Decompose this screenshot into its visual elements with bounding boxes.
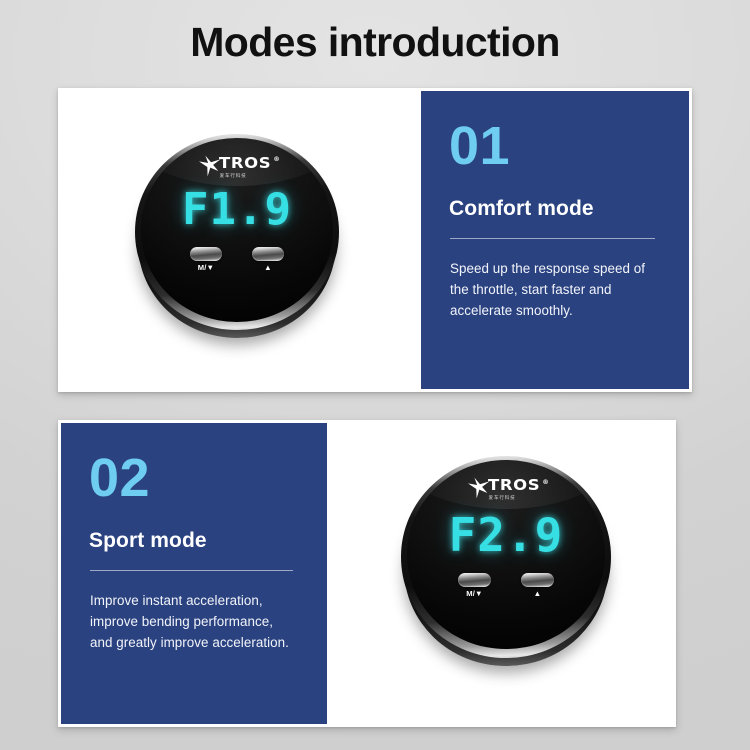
mode-down-button[interactable]: M/▼ — [190, 247, 222, 272]
up-key[interactable] — [252, 247, 284, 261]
mode-down-key[interactable] — [458, 573, 491, 587]
brand-wordmark: TROS® — [219, 156, 280, 172]
device-button-row: M/▼ ▲ — [141, 247, 333, 272]
brand-wordmark: TROS® — [488, 478, 549, 494]
brand-subtext: 爱车行科技 — [220, 173, 247, 179]
up-button[interactable]: ▲ — [521, 573, 554, 598]
mode-title: Sport mode — [89, 529, 299, 553]
mode-description: Speed up the response speed of the throt… — [450, 258, 661, 322]
mode-title: Comfort mode — [449, 197, 661, 221]
lcd-readout: F1.9 — [141, 188, 333, 232]
up-key[interactable] — [521, 573, 554, 587]
device-face: TROS® 爱车行科技 F2.9 M/▼ ▲ — [407, 460, 604, 649]
mode-down-label: M/▼ — [466, 590, 483, 598]
up-button[interactable]: ▲ — [252, 247, 284, 272]
mode-card-sport: 02 Sport mode Improve instant accelerati… — [58, 420, 676, 727]
info-pane-comfort: 01 Comfort mode Speed up the response sp… — [418, 88, 692, 392]
mode-down-key[interactable] — [190, 247, 222, 261]
mode-card-comfort: TROS® 爱车行科技 F1.9 M/▼ ▲ — [58, 88, 692, 392]
brand-subtext: 爱车行科技 — [489, 495, 516, 501]
product-photo-comfort: TROS® 爱车行科技 F1.9 M/▼ ▲ — [58, 88, 418, 392]
throttle-controller-device: TROS® 爱车行科技 F2.9 M/▼ ▲ — [400, 454, 612, 666]
mode-down-label: M/▼ — [198, 264, 215, 272]
lcd-readout: F2.9 — [407, 512, 604, 558]
mode-description: Improve instant acceleration, improve be… — [90, 590, 299, 654]
throttle-controller-device: TROS® 爱车行科技 F1.9 M/▼ ▲ — [134, 132, 340, 338]
registered-icon: ® — [273, 156, 280, 163]
brand-logo: TROS® 爱车行科技 — [407, 478, 604, 501]
divider — [90, 570, 293, 571]
page-title: Modes introduction — [0, 18, 750, 67]
product-photo-sport: TROS® 爱车行科技 F2.9 M/▼ ▲ — [330, 420, 676, 727]
mode-number-badge: 02 — [89, 451, 299, 505]
mode-number-badge: 01 — [449, 119, 661, 173]
divider — [450, 238, 655, 239]
registered-icon: ® — [542, 479, 549, 486]
page-root: Modes introduction TROS® — [0, 0, 750, 750]
up-label: ▲ — [534, 590, 542, 598]
mode-down-button[interactable]: M/▼ — [458, 573, 491, 598]
brand-logo: TROS® 爱车行科技 — [141, 156, 333, 179]
device-button-row: M/▼ ▲ — [407, 573, 604, 598]
device-face: TROS® 爱车行科技 F1.9 M/▼ ▲ — [141, 138, 333, 321]
info-pane-sport: 02 Sport mode Improve instant accelerati… — [58, 420, 330, 727]
up-label: ▲ — [264, 264, 272, 272]
